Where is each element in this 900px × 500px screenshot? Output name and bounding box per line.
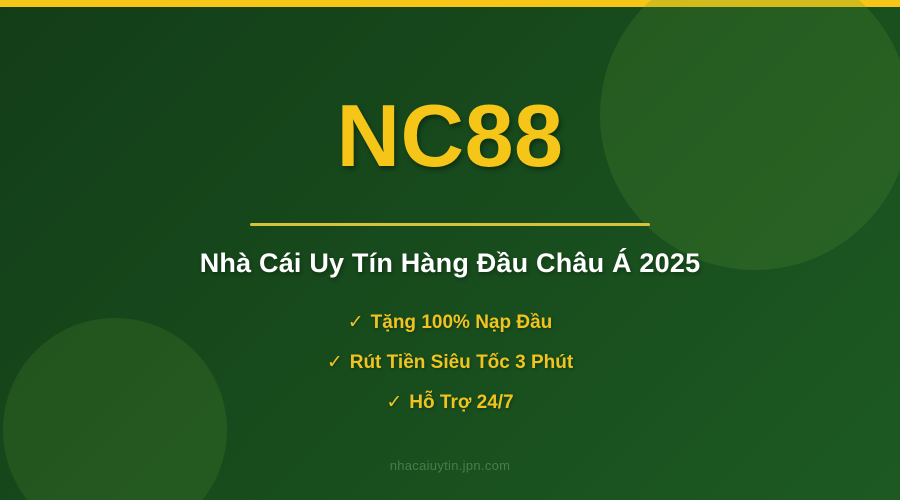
banner-tagline: Nhà Cái Uy Tín Hàng Đầu Châu Á 2025 — [200, 226, 701, 279]
feature-label: Tặng 100% Nạp Đầu — [371, 312, 553, 333]
check-icon: ✓ — [327, 353, 343, 372]
brand-title: NC88 — [337, 0, 564, 180]
feature-list: ✓Tặng 100% Nạp Đầu ✓Rút Tiền Siêu Tốc 3 … — [327, 279, 573, 412]
feature-item: ✓Tặng 100% Nạp Đầu — [327, 313, 573, 332]
feature-item: ✓Rút Tiền Siêu Tốc 3 Phút — [327, 353, 573, 372]
check-icon: ✓ — [348, 313, 364, 332]
check-icon: ✓ — [386, 393, 402, 412]
promo-banner: NC88 Nhà Cái Uy Tín Hàng Đầu Châu Á 2025… — [0, 0, 900, 500]
feature-label: Rút Tiền Siêu Tốc 3 Phút — [350, 352, 573, 373]
feature-item: ✓Hỗ Trợ 24/7 — [327, 393, 573, 412]
feature-label: Hỗ Trợ 24/7 — [409, 392, 513, 413]
banner-content: NC88 Nhà Cái Uy Tín Hàng Đầu Châu Á 2025… — [0, 0, 900, 500]
